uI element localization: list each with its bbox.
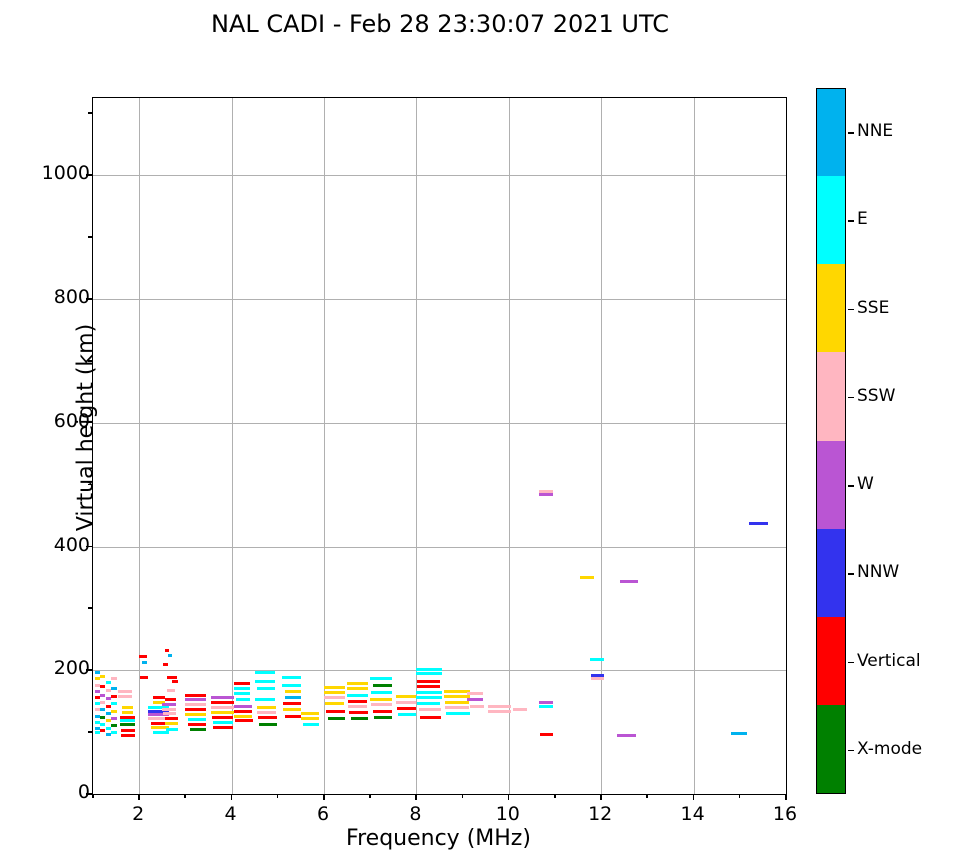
data-mark	[111, 695, 117, 698]
data-mark	[420, 716, 441, 719]
colorbar-segment-x-mode	[817, 705, 845, 793]
data-mark	[347, 694, 368, 697]
data-mark	[213, 726, 232, 729]
x-tick-minor	[462, 794, 464, 798]
x-axis-label: Frequency (MHz)	[92, 826, 785, 851]
data-mark	[416, 672, 441, 675]
data-mark	[111, 677, 117, 680]
data-mark	[172, 680, 178, 683]
data-mark	[100, 729, 105, 732]
data-mark	[285, 715, 301, 718]
data-mark	[371, 691, 392, 694]
page-title: NAL CADI - Feb 28 23:30:07 2021 UTC	[0, 10, 880, 38]
x-tick-minor	[554, 794, 556, 798]
data-mark	[257, 706, 276, 709]
x-tick-label: 2	[108, 803, 168, 825]
x-tick-label: 10	[478, 803, 538, 825]
data-mark	[349, 711, 367, 714]
data-mark	[324, 686, 345, 689]
data-mark	[347, 687, 368, 690]
data-mark	[257, 687, 275, 690]
x-tick-label: 8	[385, 803, 445, 825]
data-mark	[167, 689, 175, 692]
data-mark	[235, 719, 253, 722]
x-tick-label: 4	[201, 803, 261, 825]
ionogram-figure: NAL CADI - Feb 28 23:30:07 2021 UTC 2468…	[0, 0, 958, 857]
data-mark	[283, 702, 301, 705]
data-mark	[100, 675, 105, 678]
x-tick	[508, 794, 510, 800]
data-mark	[373, 684, 392, 687]
data-mark	[118, 695, 132, 698]
x-tick-minor	[184, 794, 186, 798]
data-mark	[100, 701, 105, 704]
colorbar-tick	[848, 750, 854, 751]
data-mark	[213, 721, 232, 724]
x-tick-minor	[646, 794, 648, 798]
x-tick	[693, 794, 695, 800]
colorbar-label-nne: NNE	[857, 121, 893, 141]
data-mark	[467, 698, 483, 701]
colorbar-segment-ssw	[817, 352, 845, 440]
data-mark	[348, 700, 367, 703]
data-mark	[445, 706, 469, 709]
data-mark	[417, 685, 440, 688]
data-mark	[111, 710, 117, 713]
colorbar-label-vertical: Vertical	[857, 651, 921, 671]
colorbar-label-nnw: NNW	[857, 562, 899, 582]
colorbar-tick	[848, 397, 854, 398]
x-tick	[138, 794, 140, 800]
data-mark	[590, 658, 604, 661]
data-mark	[121, 729, 135, 732]
data-mark	[121, 734, 135, 737]
colorbar-segment-vertical	[817, 617, 845, 705]
data-mark	[620, 580, 638, 583]
data-mark	[445, 701, 469, 704]
y-tick-label: 0	[0, 781, 90, 803]
data-mark	[591, 677, 604, 680]
data-mark	[416, 691, 441, 694]
data-mark	[100, 685, 105, 688]
x-tick-minor	[92, 794, 94, 798]
data-mark	[539, 701, 553, 704]
data-mark	[326, 710, 344, 713]
data-mark	[370, 677, 392, 680]
data-mark	[283, 708, 301, 711]
data-mark	[416, 668, 441, 671]
data-mark	[285, 690, 301, 693]
colorbar-tick	[848, 309, 854, 310]
data-mark	[303, 723, 319, 726]
data-mark	[234, 715, 252, 718]
data-mark	[100, 723, 105, 726]
colorbar-tick	[848, 662, 854, 663]
data-marks	[93, 98, 786, 794]
data-mark	[188, 718, 206, 721]
x-tick-label: 14	[663, 803, 723, 825]
data-mark	[139, 655, 146, 658]
colorbar-tick	[848, 220, 854, 221]
data-mark	[122, 706, 134, 709]
data-mark	[166, 728, 178, 731]
data-mark	[120, 719, 135, 722]
data-mark	[416, 696, 441, 699]
data-mark	[282, 684, 300, 687]
data-mark	[234, 705, 252, 708]
data-mark	[212, 716, 233, 719]
data-mark	[111, 724, 117, 727]
data-mark	[140, 676, 147, 679]
x-tick-label: 12	[570, 803, 630, 825]
data-mark	[470, 705, 485, 708]
x-tick-minor	[277, 794, 279, 798]
data-mark	[211, 711, 234, 714]
colorbar-label-x-mode: X-mode	[857, 739, 922, 759]
data-mark	[234, 692, 250, 695]
data-mark	[106, 681, 112, 684]
data-mark	[285, 696, 301, 699]
data-mark	[373, 710, 392, 713]
colorbar-segment-w	[817, 441, 845, 529]
data-mark	[163, 663, 168, 666]
data-mark	[325, 702, 344, 705]
data-mark	[591, 674, 604, 677]
data-mark	[185, 694, 206, 697]
data-mark	[397, 707, 416, 710]
data-mark	[111, 702, 117, 705]
data-mark	[255, 698, 276, 701]
data-mark	[324, 696, 345, 699]
data-mark	[255, 680, 276, 683]
x-tick	[785, 794, 787, 800]
colorbar-segment-nnw	[817, 529, 845, 617]
data-mark	[188, 723, 206, 726]
data-mark	[258, 716, 276, 719]
colorbar-tick	[848, 573, 854, 574]
data-mark	[168, 654, 173, 657]
x-tick-label: 16	[755, 803, 815, 825]
data-mark	[396, 701, 417, 704]
data-mark	[513, 708, 527, 711]
data-mark	[419, 708, 441, 711]
colorbar-label-w: W	[857, 474, 874, 494]
data-mark	[185, 698, 206, 701]
data-mark	[255, 671, 276, 674]
data-mark	[488, 710, 511, 713]
data-mark	[348, 705, 367, 708]
data-mark	[301, 717, 319, 720]
colorbar-label-sse: SSE	[857, 298, 889, 318]
x-tick-label: 6	[293, 803, 353, 825]
data-mark	[328, 717, 346, 720]
data-mark	[351, 717, 369, 720]
data-mark	[467, 692, 483, 695]
data-mark	[236, 698, 250, 701]
data-mark	[100, 708, 105, 711]
data-mark	[118, 690, 132, 693]
data-mark	[396, 695, 417, 698]
data-mark	[100, 716, 105, 719]
data-mark	[417, 680, 440, 683]
data-mark	[749, 522, 767, 525]
data-mark	[444, 690, 469, 693]
data-mark	[580, 576, 594, 579]
data-mark	[371, 703, 392, 706]
colorbar-tick	[848, 132, 854, 133]
data-mark	[185, 713, 206, 716]
data-mark	[120, 716, 135, 719]
data-mark	[234, 682, 250, 685]
plot-area	[92, 97, 787, 795]
data-mark	[617, 734, 635, 737]
data-mark	[540, 733, 553, 736]
data-mark	[539, 705, 553, 708]
data-mark	[163, 712, 176, 715]
data-mark	[167, 676, 177, 679]
data-mark	[731, 732, 747, 735]
x-tick	[600, 794, 602, 800]
colorbar-segment-sse	[817, 264, 845, 352]
data-mark	[282, 676, 300, 679]
data-mark	[211, 701, 234, 704]
data-mark	[165, 717, 178, 720]
data-mark	[488, 705, 511, 708]
data-mark	[211, 706, 234, 709]
x-tick-minor	[369, 794, 371, 798]
data-mark	[111, 717, 117, 720]
data-mark	[259, 723, 277, 726]
colorbar-tick	[848, 485, 854, 486]
data-mark	[120, 723, 135, 726]
colorbar-label-e: E	[857, 209, 868, 229]
y-axis-label: Virtual height (km)	[74, 80, 99, 776]
data-mark	[234, 687, 250, 690]
data-mark	[142, 661, 148, 664]
data-mark	[100, 694, 105, 697]
data-mark	[165, 722, 178, 725]
data-mark	[211, 696, 234, 699]
data-mark	[347, 682, 368, 685]
colorbar-segment-nne	[817, 89, 845, 176]
colorbar-segment-e	[817, 176, 845, 264]
data-mark	[374, 716, 392, 719]
data-mark	[398, 713, 416, 716]
data-mark	[301, 712, 319, 715]
data-mark	[444, 695, 469, 698]
data-mark	[234, 710, 252, 713]
data-mark	[417, 702, 440, 705]
data-mark	[165, 649, 170, 652]
x-tick	[323, 794, 325, 800]
colorbar-label-ssw: SSW	[857, 386, 895, 406]
data-mark	[153, 696, 165, 699]
data-mark	[324, 691, 345, 694]
data-mark	[165, 698, 177, 701]
colorbar-legend	[816, 88, 846, 794]
data-mark	[162, 703, 176, 706]
data-mark	[370, 698, 392, 701]
data-mark	[122, 711, 134, 714]
data-mark	[446, 712, 469, 715]
x-tick-minor	[739, 794, 741, 798]
data-mark	[111, 687, 117, 690]
data-mark	[190, 728, 206, 731]
data-mark	[162, 708, 176, 711]
data-mark	[257, 711, 276, 714]
x-tick	[231, 794, 233, 800]
x-tick	[415, 794, 417, 800]
data-mark	[539, 493, 553, 496]
data-mark	[185, 703, 206, 706]
data-mark	[111, 731, 117, 734]
data-mark	[185, 708, 206, 711]
